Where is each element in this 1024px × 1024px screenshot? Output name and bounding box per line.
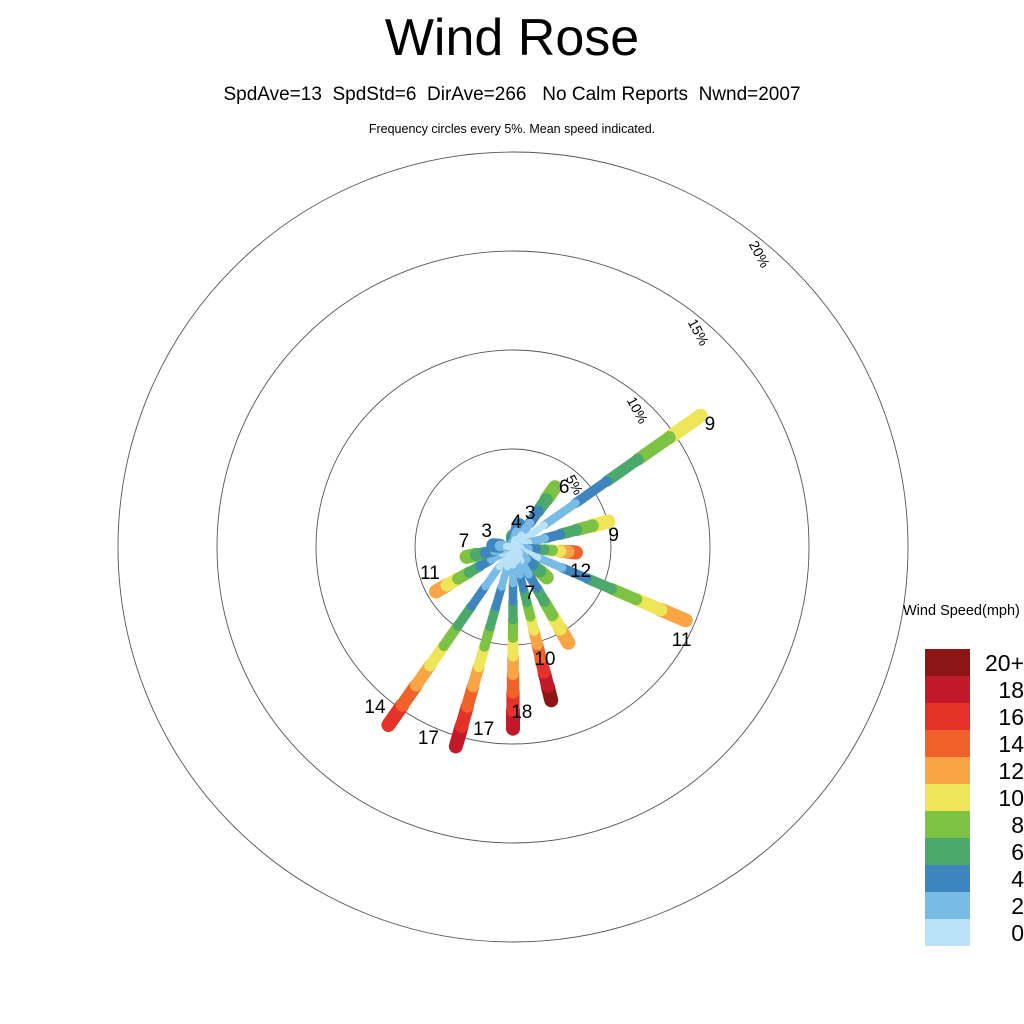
petal-mean-speed-label: 3 (481, 521, 492, 543)
legend-label: 10 (978, 785, 1024, 812)
petal-mean-speed-label: 17 (418, 728, 439, 750)
legend-label: 4 (978, 866, 1024, 893)
legend-label: 20+ (978, 650, 1024, 677)
wind-petal (388, 547, 513, 725)
petal-mean-speed-label: 3 (525, 503, 536, 525)
petal-mean-speed-label: 6 (559, 477, 570, 499)
petal-mean-speed-label: 14 (364, 697, 385, 719)
legend-label: 16 (978, 704, 1024, 731)
petal-mean-speed-label: 11 (420, 563, 440, 585)
legend-title: Wind Speed(mph) (903, 603, 1020, 619)
petal-mean-speed-label: 9 (705, 414, 716, 436)
petal-mean-speed-label: 9 (608, 525, 619, 547)
petal-mean-speed-label: 18 (511, 702, 532, 724)
legend-swatch (925, 919, 970, 946)
petal-mean-speed-label: 7 (459, 531, 470, 553)
petal-mean-speed-label: 10 (534, 649, 555, 671)
legend-label: 8 (978, 812, 1024, 839)
petal-mean-speed-label: 12 (570, 561, 591, 583)
legend-swatch (925, 784, 970, 811)
legend-label: 6 (978, 839, 1024, 866)
legend-swatch (925, 838, 970, 865)
petal-segment (607, 459, 638, 481)
legend-label: 18 (978, 677, 1024, 704)
petal-segment (638, 437, 669, 459)
petal-segment (506, 546, 513, 547)
legend-label: 0 (978, 920, 1024, 947)
legend-swatch (925, 676, 970, 703)
legend-swatch (925, 757, 970, 784)
legend-swatch (925, 730, 970, 757)
legend-label: 12 (978, 758, 1024, 785)
legend-swatch (925, 865, 970, 892)
petal-mean-speed-label: 7 (525, 583, 536, 605)
legend-swatch (925, 892, 970, 919)
petal-mean-speed-label: 4 (511, 512, 522, 534)
legend-swatch (925, 703, 970, 730)
petal-segment (485, 567, 499, 587)
petal-mean-speed-label: 11 (672, 630, 692, 652)
wind-petal (493, 545, 513, 547)
legend-label: 14 (978, 731, 1024, 758)
wind-rose-page: Wind Rose SpdAve=13 SpdStd=6 DirAve=266 … (0, 0, 1024, 1024)
petal-mean-speed-label: 17 (473, 719, 494, 741)
legend-label: 2 (978, 893, 1024, 920)
legend-swatch (925, 649, 970, 676)
legend-swatch (925, 811, 970, 838)
petal-segment (544, 503, 575, 525)
